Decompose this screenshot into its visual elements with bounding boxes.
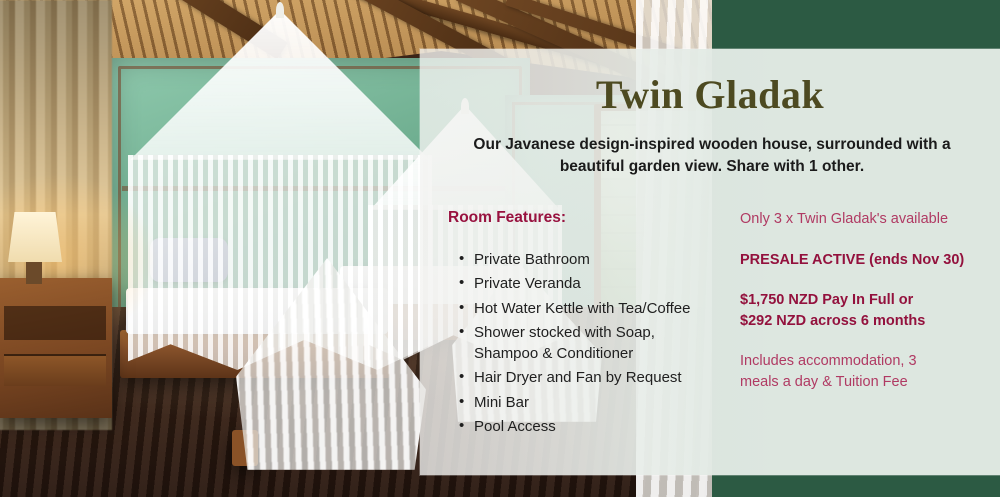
panel-subtitle: Our Javanese design-inspired wooden hous…: [454, 134, 970, 178]
info-panel: Twin Gladak Our Javanese design-inspired…: [420, 49, 1000, 475]
price-installment: $292 NZD across 6 months: [740, 311, 990, 332]
panel-columns: Room Features: Private Bathroom Private …: [420, 209, 1000, 475]
list-item: Hair Dryer and Fan by Request: [474, 367, 738, 388]
presale-status: PRESALE ACTIVE (ends Nov 30): [740, 250, 990, 271]
features-list: Private Bathroom Private Veranda Hot Wat…: [448, 249, 738, 437]
bed-frame-main: [120, 330, 390, 378]
list-item: Shower stocked with Soap,: [474, 322, 738, 343]
features-column: Room Features: Private Bathroom Private …: [448, 209, 738, 440]
features-heading: Room Features:: [448, 209, 738, 227]
stock-availability: Only 3 x Twin Gladak's available: [740, 209, 990, 230]
bedside-lamp-base: [26, 262, 42, 284]
wooden-nightstand: [0, 278, 112, 418]
patterned-pillow: [150, 238, 228, 282]
inclusions-block: Includes accommodation, 3 meals a day & …: [740, 351, 990, 392]
price-pay-in-full: $1,750 NZD Pay In Full or: [740, 290, 990, 311]
list-item-continuation: Shampoo & Conditioner: [474, 343, 738, 364]
mattress-main: [126, 288, 388, 334]
bedside-lamp-shade: [8, 212, 62, 262]
inclusions-line-2: meals a day & Tuition Fee: [740, 372, 990, 393]
list-item: Private Bathroom: [474, 249, 738, 270]
availability-column: Only 3 x Twin Gladak's available PRESALE…: [740, 209, 990, 412]
list-item: Mini Bar: [474, 392, 738, 413]
inclusions-line-1: Includes accommodation, 3: [740, 351, 990, 372]
page-title: Twin Gladak: [420, 71, 1000, 118]
list-item: Pool Access: [474, 416, 738, 437]
bed-leg: [232, 430, 258, 466]
pricing-block: $1,750 NZD Pay In Full or $292 NZD acros…: [740, 290, 990, 331]
room-promo-card: Twin Gladak Our Javanese design-inspired…: [0, 0, 1000, 497]
list-item: Hot Water Kettle with Tea/Coffee: [474, 298, 738, 319]
list-item: Private Veranda: [474, 273, 738, 294]
